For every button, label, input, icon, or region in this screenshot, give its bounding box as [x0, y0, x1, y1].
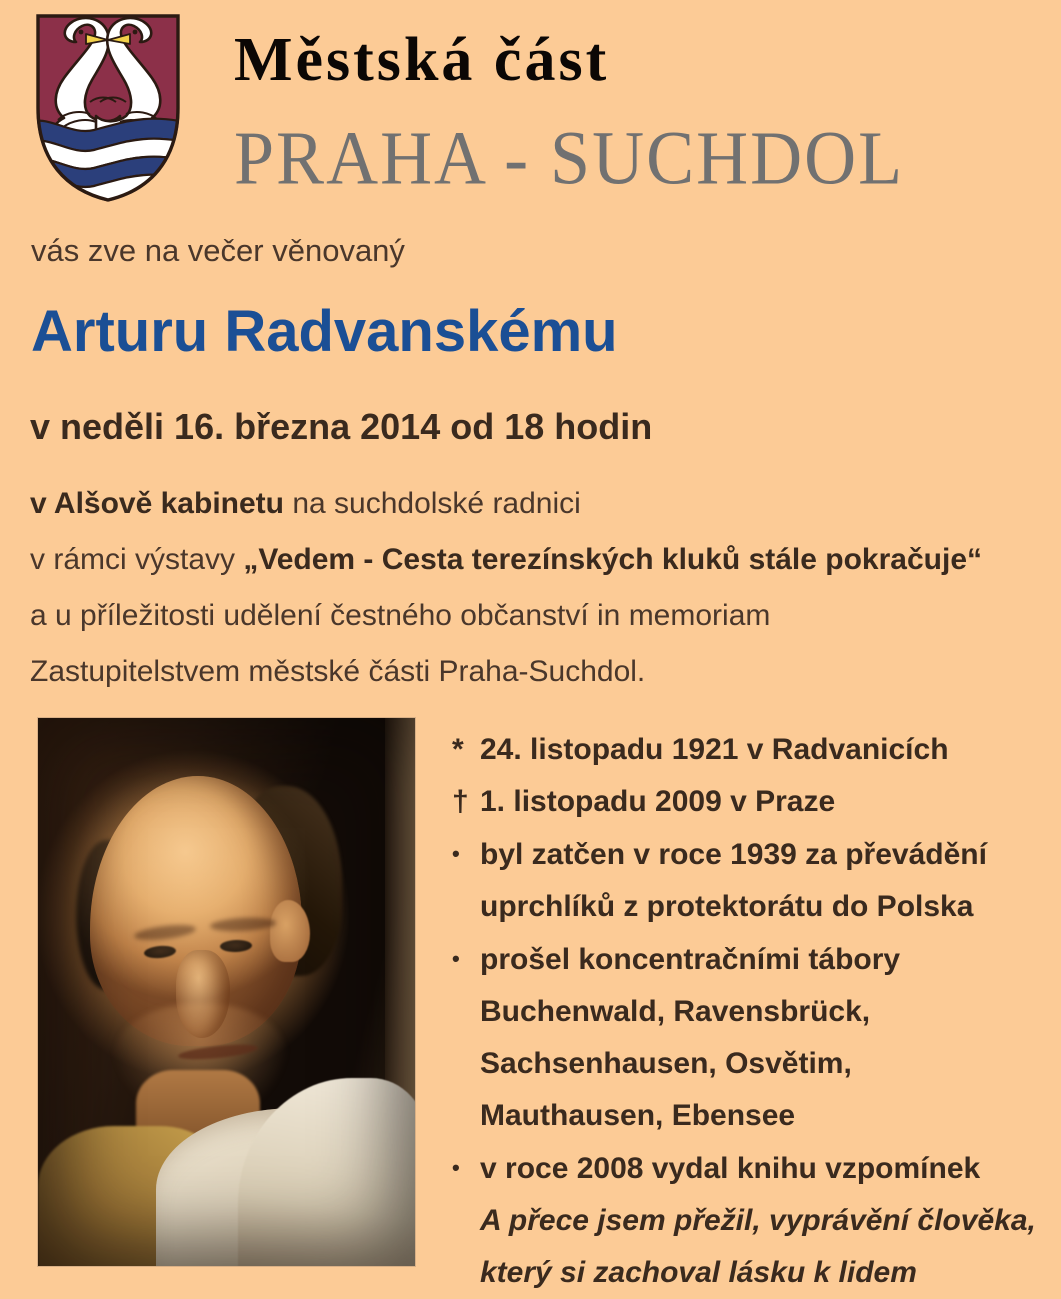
event-datetime: v neděli 16. března 2014 od 18 hodin [30, 405, 652, 449]
bio-item-0: *24. listopadu 1921 v Radvanicích [452, 724, 1052, 776]
org-name-line1: Městská část [234, 27, 609, 93]
bio-item-text: prošel koncentračními tábory [480, 943, 900, 976]
bio-item-4: •prošel koncentračními tábory [452, 933, 1052, 986]
bio-item-9: A přece jsem přežil, vyprávění člověka, [452, 1195, 1052, 1247]
coat-of-arms-icon [34, 12, 182, 204]
detail-venue-bold: v Alšově kabinetu [30, 487, 284, 520]
detail-line-occasion: a u příležitosti udělení čestného občans… [30, 588, 1050, 644]
detail-line-venue: v Alšově kabinetu na suchdolské radnici [30, 476, 1050, 532]
bio-item-text: 24. listopadu 1921 v Radvanicích [480, 733, 949, 766]
poster-header: Městská část PRAHA - SUCHDOL [0, 0, 1061, 212]
detail-venue-rest: na suchdolské radnici [284, 487, 581, 520]
bio-item-text: A přece jsem přežil, vyprávění člověka, [480, 1204, 1036, 1237]
bio-item-10: který si zachoval lásku k lidem [452, 1247, 1052, 1299]
bio-marker-asterisk-icon: * [452, 724, 480, 776]
detail-exhibition-title: „Vedem - Cesta terezínských kluků stále … [243, 543, 982, 576]
bio-marker-bullet-icon: • [452, 1142, 480, 1194]
bio-item-text: 1. listopadu 2009 v Praze [480, 785, 835, 818]
bio-item-text: Buchenwald, Ravensbrück, [480, 995, 870, 1028]
bio-item-6: Sachsenhausen, Osvětim, [452, 1038, 1052, 1090]
bio-item-7: Mauthausen, Ebensee [452, 1090, 1052, 1142]
bio-item-text: Mauthausen, Ebensee [480, 1099, 795, 1132]
bio-item-text: v roce 2008 vydal knihu vzpomínek [480, 1152, 980, 1185]
detail-exhibition-prefix: v rámci výstavy [30, 543, 243, 576]
poster-root: Městská část PRAHA - SUCHDOL vás zve na … [0, 0, 1061, 1295]
bio-item-3: uprchlíků z protektorátu do Polska [452, 881, 1052, 933]
bio-item-text: uprchlíků z protektorátu do Polska [480, 890, 973, 923]
bio-item-text: byl zatčen v roce 1939 za převádění [480, 838, 987, 871]
bio-marker-bullet-icon: • [452, 933, 480, 985]
org-name-line2: PRAHA - SUCHDOL [234, 118, 904, 199]
bio-item-2: •byl zatčen v roce 1939 za převádění [452, 828, 1052, 881]
bio-item-8: •v roce 2008 vydal knihu vzpomínek [452, 1142, 1052, 1195]
honoree-name: Arturu Radvanskému [31, 299, 618, 365]
event-details: v Alšově kabinetu na suchdolské radnici … [30, 476, 1050, 700]
portrait-photo [38, 718, 415, 1266]
bio-marker-dagger-icon: † [452, 776, 480, 828]
bio-marker-bullet-icon: • [452, 828, 480, 880]
invite-lead-text: vás zve na večer věnovaný [31, 232, 405, 270]
bio-item-text: Sachsenhausen, Osvětim, [480, 1047, 852, 1080]
detail-line-council: Zastupitelstvem městské části Praha-Such… [30, 644, 1050, 700]
detail-line-exhibition: v rámci výstavy „Vedem - Cesta terezínsk… [30, 532, 1050, 588]
biography-list: *24. listopadu 1921 v Radvanicích†1. lis… [452, 724, 1052, 1299]
bio-item-5: Buchenwald, Ravensbrück, [452, 986, 1052, 1038]
bio-item-1: †1. listopadu 2009 v Praze [452, 776, 1052, 828]
bio-item-text: který si zachoval lásku k lidem [480, 1256, 917, 1289]
